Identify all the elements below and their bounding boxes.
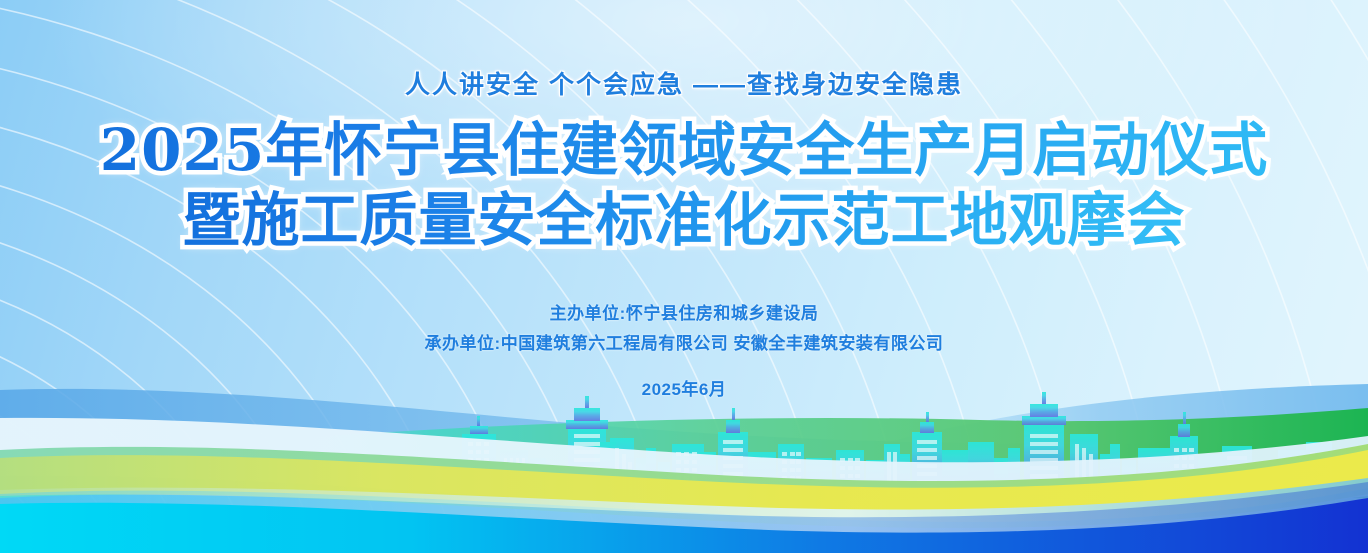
banner-content: 人人讲安全 个个会应急 ——查找身边安全隐患 2025年怀宁县住建领域安全生产月… (0, 0, 1368, 400)
title-block: 2025年怀宁县住建领域安全生产月启动仪式 2025年怀宁县住建领域安全生产月启… (0, 115, 1368, 255)
event-banner: 人人讲安全 个个会应急 ——查找身边安全隐患 2025年怀宁县住建领域安全生产月… (0, 0, 1368, 553)
slogan-text: 人人讲安全 个个会应急 ——查找身边安全隐患 (0, 65, 1368, 101)
title-line-2: 暨施工质量安全标准化示范工地观摩会 暨施工质量安全标准化示范工地观摩会 (0, 185, 1368, 255)
host-unit-line: 主办单位:怀宁县住房和城乡建设局 (0, 299, 1368, 329)
title-line-1: 2025年怀宁县住建领域安全生产月启动仪式 2025年怀宁县住建领域安全生产月启… (0, 115, 1368, 185)
organizer-unit-line: 承办单位:中国建筑第六工程局有限公司 安徽全丰建筑安装有限公司 (0, 329, 1368, 359)
bottom-scenery (0, 378, 1368, 553)
title-line-1-fill: 2025年怀宁县住建领域安全生产月启动仪式 (100, 116, 1268, 184)
title-line-2-fill: 暨施工质量安全标准化示范工地观摩会 (182, 186, 1185, 254)
